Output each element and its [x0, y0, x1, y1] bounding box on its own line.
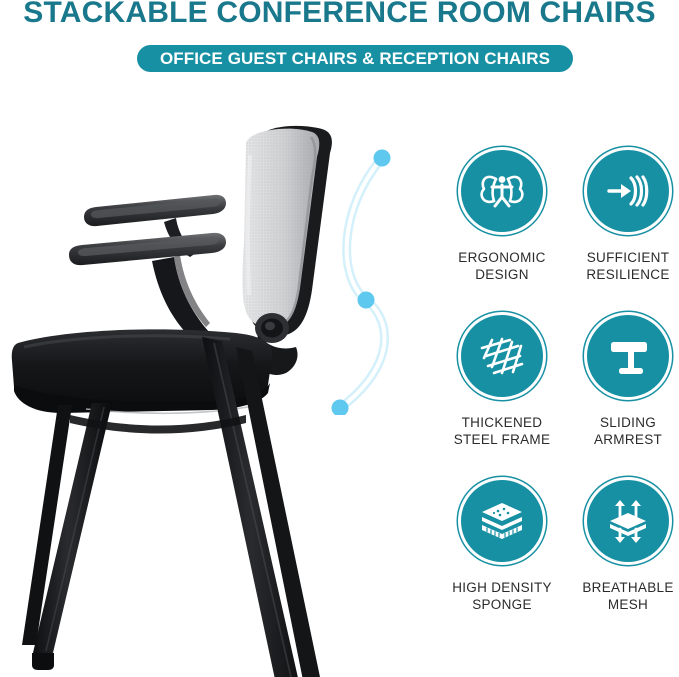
- spine-dot-top: [374, 150, 391, 167]
- feature-label: SUFFICIENT RESILIENCE: [566, 249, 679, 283]
- feature-label: SLIDING ARMREST: [566, 414, 679, 448]
- feature-sliding-armrest[interactable]: SLIDING ARMREST: [566, 315, 679, 448]
- armrest-post: [152, 255, 210, 337]
- header: STACKABLE CONFERENCE ROOM CHAIRS OFFICE …: [0, 0, 679, 80]
- spine-dot-middle: [358, 292, 375, 309]
- feature-sufficient-resilience[interactable]: SUFFICIENT RESILIENCE: [566, 150, 679, 283]
- product-image: [0, 85, 430, 677]
- feature-label: ERGONOMIC DESIGN: [440, 249, 564, 283]
- steel-lattice-icon: [461, 315, 543, 397]
- spine-support-curve: [320, 140, 430, 415]
- ergonomic-body-icon: [461, 150, 543, 232]
- feature-label: HIGH DENSITY SPONGE: [440, 579, 564, 613]
- feature-thickened-steel-frame[interactable]: THICKENED STEEL FRAME: [440, 315, 564, 448]
- armrest-beam-icon: [587, 315, 669, 397]
- breathable-mesh-airflow-icon: [587, 480, 669, 562]
- feature-label: BREATHABLE MESH: [566, 579, 679, 613]
- subtitle-badge-label: OFFICE GUEST CHAIRS & RECEPTION CHAIRS: [160, 50, 550, 67]
- spine-curve-svg: [320, 140, 430, 415]
- chair-backrest: [242, 126, 332, 336]
- feature-high-density-sponge[interactable]: HIGH DENSITY SPONGE: [440, 480, 564, 613]
- product-infographic: STACKABLE CONFERENCE ROOM CHAIRS OFFICE …: [0, 0, 679, 677]
- layered-sponge-icon: [461, 480, 543, 562]
- lower-armrest: [69, 233, 226, 265]
- feature-breathable-mesh[interactable]: BREATHABLE MESH: [566, 480, 679, 613]
- subtitle-badge: OFFICE GUEST CHAIRS & RECEPTION CHAIRS: [137, 45, 573, 72]
- feature-ergonomic-design[interactable]: ERGONOMIC DESIGN: [440, 150, 564, 283]
- feature-label: THICKENED STEEL FRAME: [440, 414, 564, 448]
- feature-grid: ERGONOMIC DESIGN SUFFICIENT RESILIENCE: [430, 150, 679, 650]
- page-title: STACKABLE CONFERENCE ROOM CHAIRS: [0, 0, 679, 33]
- resilience-arrow-icon: [587, 150, 669, 232]
